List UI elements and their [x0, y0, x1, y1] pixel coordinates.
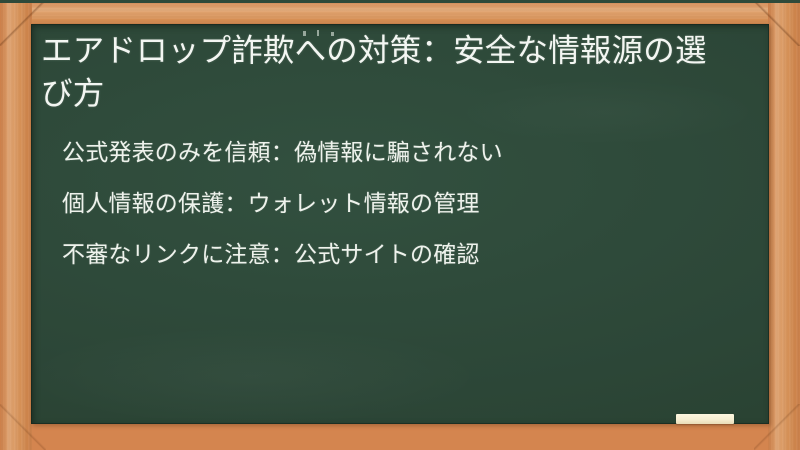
bullet-list: 公式発表のみを信頼：偽情報に騙されない 個人情報の保護：ウォレット情報の管理 不…: [36, 142, 751, 267]
chalk-stick-icon: [676, 414, 734, 424]
bullet-item-3: 不審なリンクに注意：公式サイトの確認: [62, 244, 751, 267]
top-edge-hairline: [0, 0, 800, 3]
chalkboard-slide: エアドロップ詐欺への対策：安全な情報源の選び方 公式発表のみを信頼：偽情報に騙さ…: [0, 0, 800, 450]
bullet-item-2: 個人情報の保護：ウォレット情報の管理: [62, 193, 751, 216]
frame-rail-right: [768, 0, 800, 450]
bullet-item-1: 公式発表のみを信頼：偽情報に騙されない: [62, 142, 751, 165]
chalkboard-surface: エアドロップ詐欺への対策：安全な情報源の選び方 公式発表のみを信頼：偽情報に騙さ…: [31, 24, 769, 424]
board-text-block: エアドロップ詐欺への対策：安全な情報源の選び方 公式発表のみを信頼：偽情報に騙さ…: [31, 24, 769, 267]
page-title: エアドロップ詐欺への対策：安全な情報源の選び方: [36, 30, 726, 116]
frame-rail-top: [0, 0, 800, 26]
frame-rail-left: [0, 0, 32, 450]
